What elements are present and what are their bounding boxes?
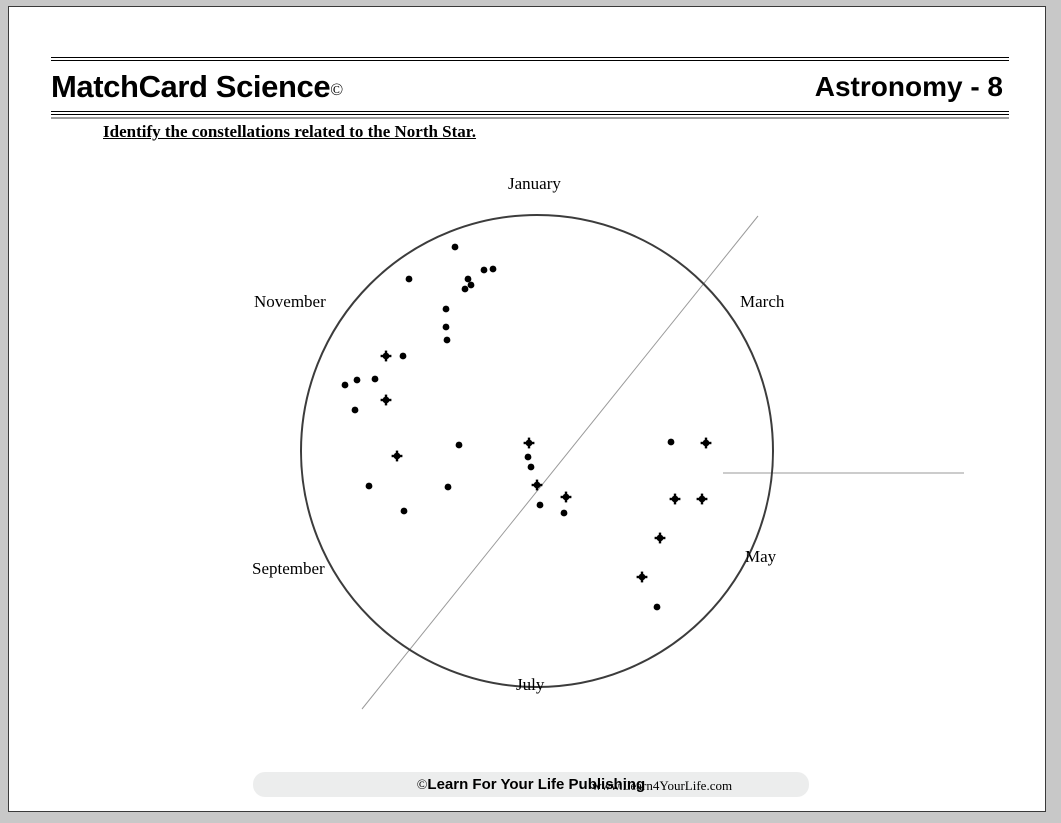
star-marker: [701, 438, 712, 449]
page-title: Astronomy - 8: [815, 71, 1003, 103]
guide-lines-group: [362, 216, 964, 709]
stars-group: [342, 244, 712, 611]
star-marker: [525, 454, 532, 461]
star-marker: [561, 492, 572, 503]
footer-url: www.Learn4YourLife.com: [592, 778, 732, 794]
star-marker: [342, 382, 349, 389]
star-marker: [392, 451, 403, 462]
month-labels-group: JanuaryMarchMayJulySeptemberNovember: [252, 174, 785, 694]
month-label-march: March: [740, 292, 785, 311]
star-marker: [444, 337, 451, 344]
star-marker: [352, 407, 359, 414]
star-marker: [524, 438, 535, 449]
header-rule-top: [51, 57, 1009, 61]
star-marker: [381, 351, 392, 362]
star-marker: [456, 442, 463, 449]
brand-title-text: MatchCard Science: [51, 69, 330, 104]
star-marker: [465, 276, 472, 283]
star-marker: [381, 395, 392, 406]
sky-circle-outline: [301, 215, 773, 687]
header-rule-bottom: [51, 111, 1009, 115]
star-marker: [406, 276, 413, 283]
star-marker: [655, 533, 666, 544]
star-marker: [654, 604, 661, 611]
copyright-icon: ©: [330, 80, 343, 99]
star-marker: [481, 267, 488, 274]
star-marker: [400, 353, 407, 360]
worksheet-page: MatchCard Science© Astronomy - 8 Identif…: [8, 6, 1046, 812]
star-marker: [528, 464, 535, 471]
star-marker: [561, 510, 568, 517]
star-marker: [637, 572, 648, 583]
star-marker: [445, 484, 452, 491]
star-marker: [372, 376, 379, 383]
star-marker: [462, 286, 469, 293]
star-marker: [443, 324, 450, 331]
star-marker: [401, 508, 408, 515]
star-marker: [354, 377, 361, 384]
header-rule-gray: [51, 117, 1009, 119]
star-marker: [490, 266, 497, 273]
star-marker: [366, 483, 373, 490]
star-marker: [468, 282, 475, 289]
star-marker: [668, 439, 675, 446]
star-marker: [532, 480, 543, 491]
month-label-january: January: [508, 174, 561, 193]
footer-copyright-icon: ©: [417, 778, 428, 793]
diagonal-pointer-line: [362, 216, 758, 709]
month-label-may: May: [745, 547, 777, 566]
month-label-november: November: [254, 292, 326, 311]
month-label-september: September: [252, 559, 325, 578]
star-marker: [670, 494, 681, 505]
star-marker: [452, 244, 459, 251]
instruction-text: Identify the constellations related to t…: [103, 122, 476, 142]
brand-title: MatchCard Science©: [51, 69, 343, 105]
star-marker: [537, 502, 544, 509]
star-marker: [697, 494, 708, 505]
star-marker: [443, 306, 450, 313]
month-label-july: July: [516, 675, 545, 694]
